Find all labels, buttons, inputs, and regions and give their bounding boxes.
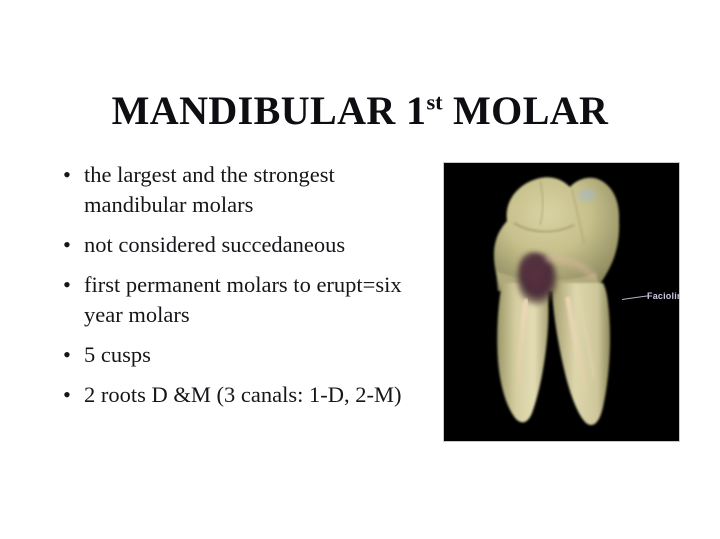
bullet-list: • the largest and the strongest mandibul… (56, 160, 428, 410)
bullet-marker-icon: • (63, 380, 71, 410)
bullet-marker-icon: • (63, 270, 71, 300)
molar-tooth-illustration (444, 163, 680, 442)
list-item-label: the largest and the strongest mandibular… (84, 160, 428, 220)
bullet-marker-icon: • (63, 340, 71, 370)
list-item: • first permanent molars to erupt=six ye… (56, 270, 428, 330)
title-ordinal-number: 1 (406, 88, 426, 133)
list-item: • not considered succedaneous (56, 230, 428, 260)
page-title: MANDIBULAR 1st MOLAR (0, 89, 720, 134)
list-item: • 2 roots D &M (3 canals: 1-D, 2-M) (56, 380, 428, 410)
list-item-label: not considered succedaneous (84, 230, 428, 260)
tooth-photo-stage: Faciolin (444, 163, 679, 441)
title-ordinal-suffix: st (426, 89, 442, 114)
list-item-label: first permanent molars to erupt=six year… (84, 270, 428, 330)
list-item: • the largest and the strongest mandibul… (56, 160, 428, 220)
title-text-before: MANDIBULAR (112, 88, 406, 133)
bullet-marker-icon: • (63, 230, 71, 260)
title-text-after: MOLAR (443, 88, 609, 133)
tooth-photo: Faciolin (443, 162, 680, 442)
callout-label: Faciolin (647, 291, 680, 301)
list-item-label: 2 roots D &M (3 canals: 1-D, 2-M) (84, 380, 428, 410)
list-item-label: 5 cusps (84, 340, 428, 370)
bullet-marker-icon: • (63, 160, 71, 190)
list-item: • 5 cusps (56, 340, 428, 370)
presentation-slide: MANDIBULAR 1st MOLAR • the largest and t… (0, 0, 720, 539)
